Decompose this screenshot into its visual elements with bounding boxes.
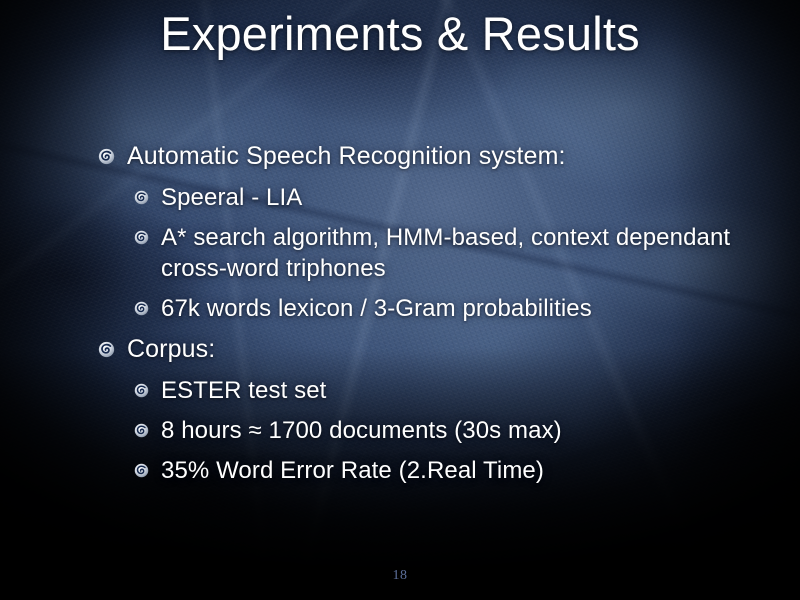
- bullet-text: Automatic Speech Recognition system:: [127, 140, 760, 173]
- swirl-bullet-icon: [134, 383, 149, 398]
- swirl-bullet-icon: [134, 301, 149, 316]
- bullet-item-2: A* search algorithm, HMM-based, context …: [134, 222, 760, 284]
- slide-title: Experiments & Results: [0, 6, 800, 61]
- swirl-bullet-icon: [134, 423, 149, 438]
- swirl-bullet-icon: [134, 230, 149, 245]
- bullet-item-1: Speeral - LIA: [134, 182, 760, 213]
- swirl-bullet-icon: [98, 341, 115, 358]
- bullet-text: 67k words lexicon / 3-Gram probabilities: [161, 293, 760, 324]
- bullet-item-7: 35% Word Error Rate (2.Real Time): [134, 455, 760, 486]
- bullet-list: Automatic Speech Recognition system: Spe…: [98, 140, 760, 495]
- bullet-item-5: ESTER test set: [134, 375, 760, 406]
- bullet-item-6: 8 hours ≈ 1700 documents (30s max): [134, 415, 760, 446]
- bullet-text: A* search algorithm, HMM-based, context …: [161, 222, 760, 284]
- bullet-text: 35% Word Error Rate (2.Real Time): [161, 455, 760, 486]
- bullet-text: ESTER test set: [161, 375, 760, 406]
- bullet-item-0: Automatic Speech Recognition system:: [98, 140, 760, 173]
- bullet-text: Speeral - LIA: [161, 182, 760, 213]
- swirl-bullet-icon: [134, 463, 149, 478]
- bullet-text: 8 hours ≈ 1700 documents (30s max): [161, 415, 760, 446]
- page-number: 18: [0, 568, 800, 584]
- bullet-item-3: 67k words lexicon / 3-Gram probabilities: [134, 293, 760, 324]
- swirl-bullet-icon: [98, 148, 115, 165]
- slide-content: Experiments & Results Automatic Speech R…: [0, 0, 800, 600]
- bullet-item-4: Corpus:: [98, 333, 760, 366]
- swirl-bullet-icon: [134, 190, 149, 205]
- presentation-slide: Experiments & Results Automatic Speech R…: [0, 0, 800, 600]
- bullet-text: Corpus:: [127, 333, 760, 366]
